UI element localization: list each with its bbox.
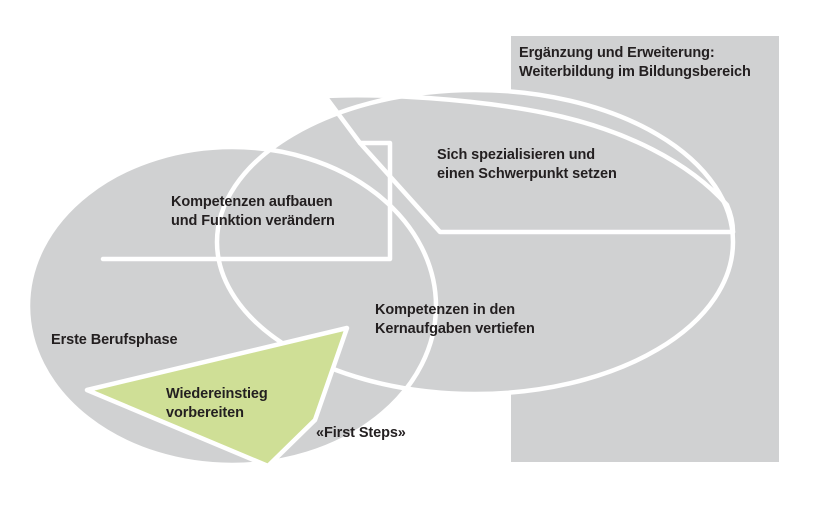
label-specialize: Sich spezialisieren und einen Schwerpunk… [437, 146, 617, 183]
label-first-steps: «First Steps» [316, 424, 406, 443]
diagram-canvas: Ergänzung und Erweiterung: Weiterbildung… [0, 0, 824, 520]
label-core-tasks: Kompetenzen in den Kernaufgaben vertiefe… [375, 301, 535, 338]
label-build-competence: Kompetenzen aufbauen und Funktion veränd… [171, 193, 335, 230]
further-education-title: Ergänzung und Erweiterung: Weiterbildung… [519, 44, 751, 81]
label-reentry: Wiedereinstieg vorbereiten [166, 385, 268, 422]
label-first-career-phase: Erste Berufsphase [51, 331, 177, 350]
